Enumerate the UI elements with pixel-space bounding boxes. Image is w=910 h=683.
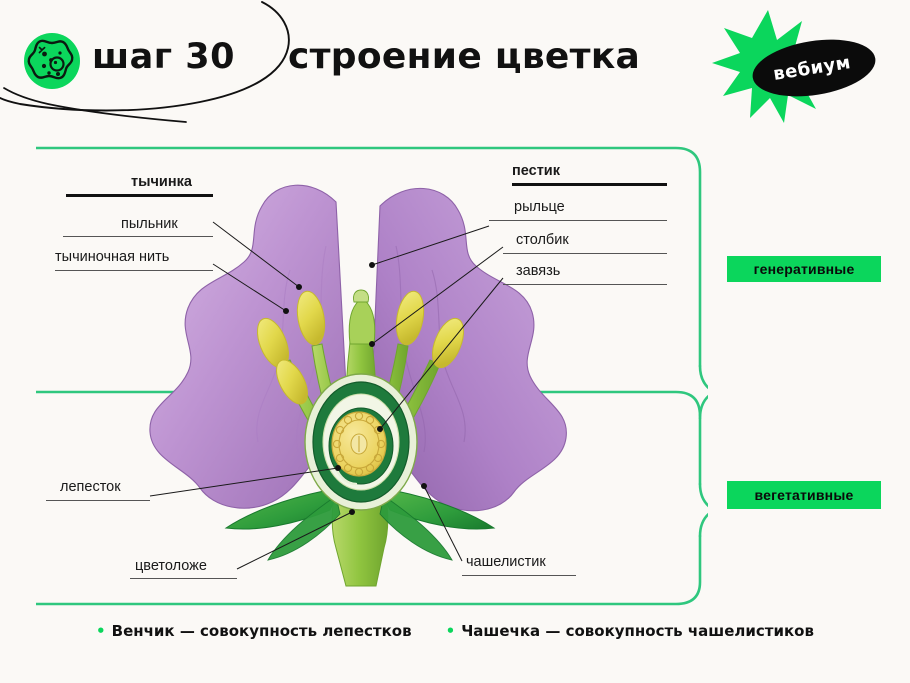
label-stigma: рыльце [514,199,565,215]
label-receptacle: цветоложе [135,558,207,574]
badge-generative: генеративные [727,256,881,282]
label-ovary-rule [503,284,667,285]
badge-vegetative: вегетативные [727,481,881,509]
note-calyx-text: Чашечка — совокупность чашелистиков [461,622,814,640]
label-sepal-rule [462,575,576,576]
note-corolla: • Венчик — совокупность лепестков [96,622,412,640]
hand-drawn-ellipse-icon [0,0,480,128]
label-petal: лепесток [60,479,121,495]
slide-header: шаг 30 строение цветка вебиум [0,0,910,128]
label-filament-rule [55,270,213,271]
label-pistil-rule [512,183,667,186]
bullet-icon: • [96,624,106,639]
note-corolla-text: Венчик — совокупность лепестков [112,622,412,640]
label-receptacle-rule [130,578,237,579]
label-petal-rule [46,500,150,501]
slide-canvas: шаг 30 строение цветка вебиум [0,0,910,683]
label-anther-rule [63,236,213,237]
label-filament: тычиночная нить [55,249,169,265]
label-stamen-rule [66,194,213,197]
label-anther: пыльник [121,216,178,232]
label-style-rule [503,253,667,254]
footer-notes: • Венчик — совокупность лепестков • Чаше… [0,622,910,662]
note-calyx: • Чашечка — совокупность чашелистиков [446,622,814,640]
label-pistil: пестик [512,163,560,179]
label-ovary: завязь [516,263,560,279]
flower-anatomy-cross-section [140,150,580,590]
label-style: столбик [516,232,569,248]
label-stigma-rule [489,220,667,221]
brand-logo: вебиум [706,8,886,123]
bullet-icon: • [446,624,456,639]
label-sepal: чашелистик [466,554,546,570]
label-stamen: тычинка [131,174,192,190]
